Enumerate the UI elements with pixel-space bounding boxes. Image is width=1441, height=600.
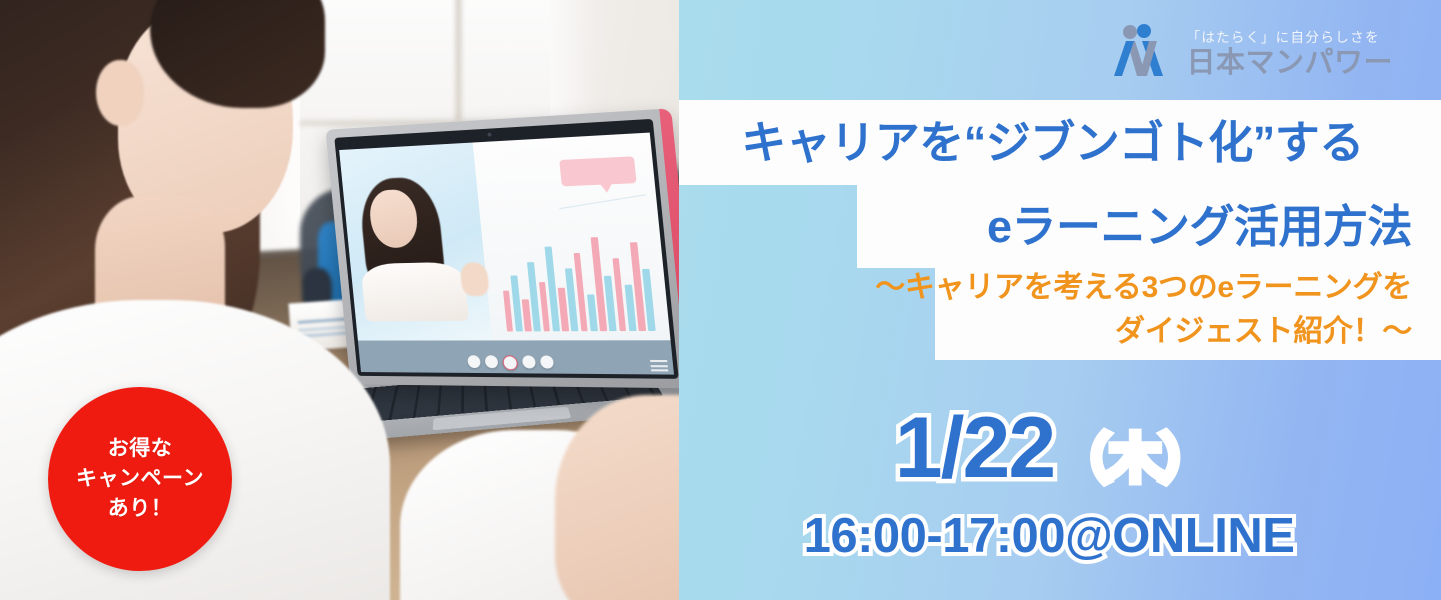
content-panel: 「はたらく」に自分らしさを 日本マンパワー キャリアを“ジブンゴト化”する eラ… — [679, 0, 1441, 600]
laptop-screen — [339, 133, 674, 375]
laptop-lid — [325, 108, 679, 388]
nihon-manpower-logo-icon — [1113, 24, 1177, 78]
screen-meeting-toolbar — [358, 341, 674, 375]
campaign-badge-line3: あり！ — [108, 494, 173, 524]
brand-logo: 「はたらく」に自分らしさを 日本マンパワー — [1113, 24, 1393, 78]
event-time-row: 16:00-17:00@ONLINE — [679, 512, 1419, 561]
laptop-webcam-icon — [487, 133, 491, 137]
event-day-of-week: （木） — [1058, 434, 1211, 486]
screen-slide-callout — [559, 156, 636, 186]
screen-video-tile — [339, 143, 492, 341]
photo-woman-ear — [96, 60, 144, 126]
menu-icon — [650, 360, 668, 371]
brand-tagline: 「はたらく」に自分らしさを — [1186, 31, 1379, 45]
chat-icon — [539, 356, 553, 369]
screen-presenter-body — [361, 262, 470, 322]
meeting-controls — [467, 356, 554, 371]
event-date: 1/22 — [895, 405, 1054, 491]
campaign-badge: お得な キャンペーン あり！ — [48, 387, 232, 571]
title-line-2: eラーニング活用方法 — [679, 185, 1426, 268]
laptop-bezel — [334, 119, 678, 379]
screen-slide-bar-chart — [496, 220, 656, 331]
end-call-icon — [502, 356, 518, 371]
brand-company-name: 日本マンパワー — [1186, 49, 1393, 78]
participants-icon — [521, 356, 535, 369]
subtitle-line-1: ～キャリアを考える3つのeラーニングを — [679, 264, 1426, 312]
seminar-banner: お得な キャンペーン あり！ 「はたらく」に自分らしさを 日本マンパワー キャリ… — [0, 0, 1441, 600]
brand-logo-text: 「はたらく」に自分らしさを 日本マンパワー — [1186, 31, 1393, 79]
campaign-badge-line1: お得な — [108, 434, 173, 464]
mic-icon — [467, 356, 481, 369]
title-line-1: キャリアを“ジブンゴト化”する — [679, 100, 1426, 185]
campaign-badge-line2: キャンペーン — [76, 464, 204, 494]
subtitle-line-2: ダイジェスト紹介！～ — [679, 308, 1426, 356]
event-date-row: 1/22 （木） — [679, 405, 1427, 491]
event-time-place: 16:00-17:00@ONLINE — [804, 509, 1295, 563]
camera-icon — [484, 356, 498, 369]
